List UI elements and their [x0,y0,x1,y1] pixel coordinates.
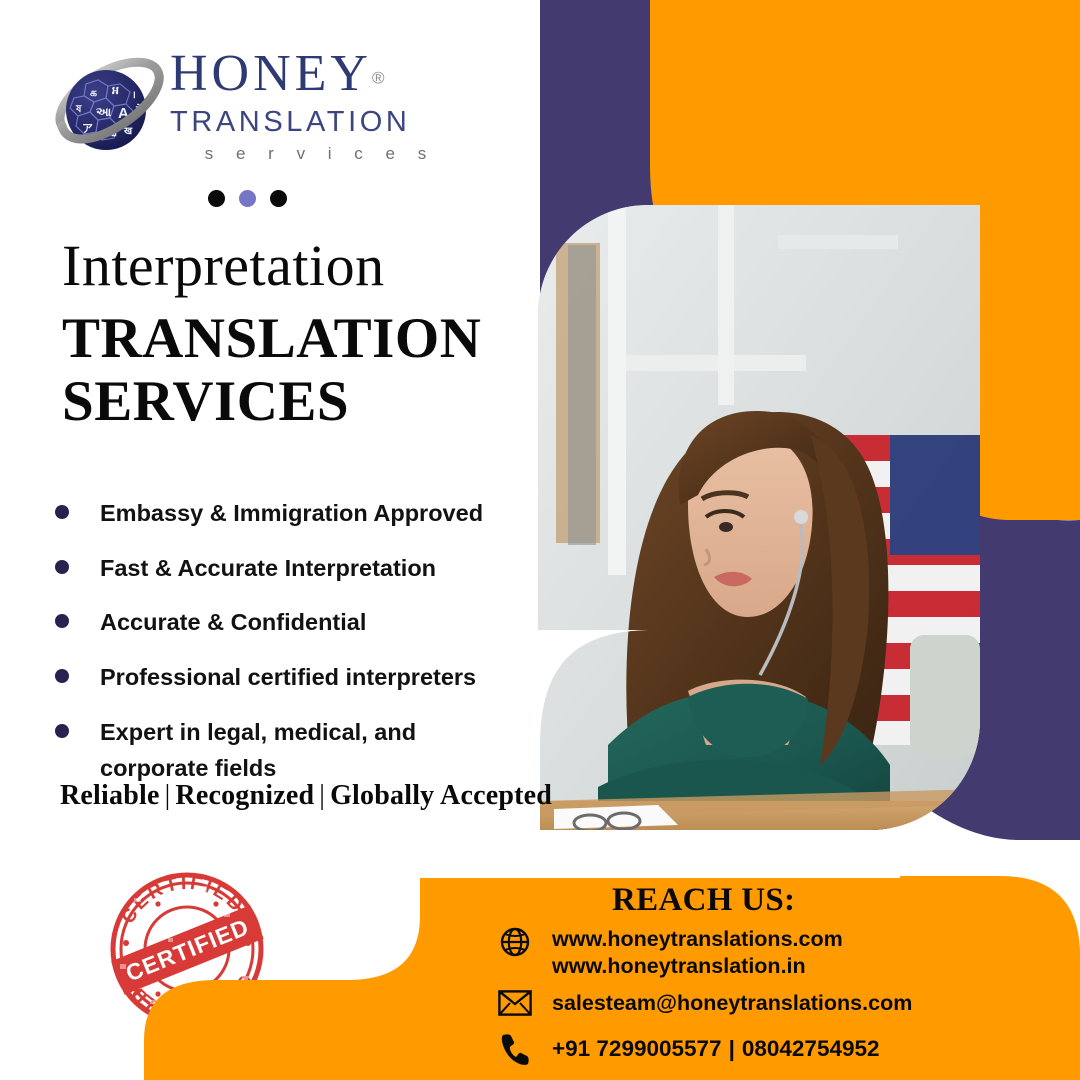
phone-secondary[interactable]: 08042754952 [742,1036,880,1061]
headline-bold-line1: TRANSLATION [62,305,532,372]
headline-bold-line2: SERVICES [62,368,532,435]
contact-website[interactable]: www.honeytranslations.com www.honeytrans… [494,926,843,980]
photo-corner-notch [530,630,690,850]
envelope-icon [494,990,536,1016]
registered-trademark-icon: ® [372,69,385,88]
svg-text:ア: ア [82,122,93,135]
phone-primary[interactable]: +91 7299005577 [552,1036,722,1061]
list-item: Accurate & Confidential [55,605,535,641]
svg-text:ষ: ষ [75,104,82,115]
dot-2 [239,190,256,207]
list-item-label: Accurate & Confidential [100,605,366,641]
contact-phone[interactable]: +91 7299005577|08042754952 [494,1032,880,1066]
list-item-label: Professional certified interpreters [100,660,476,696]
list-item: Professional certified interpreters [55,660,535,696]
phone-icon [494,1032,536,1066]
svg-text:।: । [132,90,136,101]
website-secondary[interactable]: www.honeytranslation.in [552,953,843,980]
tagline-part-2: Recognized [175,780,314,811]
email-text[interactable]: salesteam@honeytranslations.com [552,990,912,1017]
contact-email[interactable]: salesteam@honeytranslations.com [494,990,912,1017]
dot-3 [270,190,287,207]
globe-icon [494,926,536,958]
decorative-dots [208,190,287,207]
logo-subtitle: TRANSLATION [170,104,460,140]
tagline-part-3: Globally Accepted [330,780,552,811]
brand-logo[interactable]: க អ । ষ આ A ने ア ബ ख HONEY® TRANSLATION … [52,48,452,173]
svg-text:க: க [90,87,97,99]
svg-text:આ: આ [96,105,112,119]
bullet-icon [55,505,69,519]
list-item: Embassy & Immigration Approved [55,496,535,532]
feature-list: Embassy & Immigration Approved Fast & Ac… [55,496,535,805]
list-item-label: Expert in legal, medical, and corporate … [100,715,440,786]
tagline-separator-2: | [314,780,330,811]
tagline-part-1: Reliable [60,780,160,811]
bullet-icon [55,560,69,574]
reach-us-title: REACH US: [612,882,795,919]
list-item: Expert in legal, medical, and corporate … [55,715,535,786]
phone-separator: | [722,1036,742,1061]
logo-name-row: HONEY® [170,48,460,100]
svg-text:អ: អ [111,85,119,97]
logo-tagline: s e r v i c e s [170,144,460,164]
bullet-icon [55,669,69,683]
bullet-icon [55,614,69,628]
list-item-label: Fast & Accurate Interpretation [100,551,436,587]
headline-script-line: Interpretation [62,236,532,297]
tagline-separator-1: | [160,780,176,811]
website-primary[interactable]: www.honeytranslations.com [552,926,843,953]
globe-languages-icon: க អ । ষ આ A ने ア ബ ख [52,54,164,166]
logo-wordmark: HONEY® TRANSLATION s e r v i c e s [170,48,460,164]
contact-section: REACH US: www.honeytranslations.com www.… [0,860,1080,1080]
list-item: Fast & Accurate Interpretation [55,551,535,587]
headline-block: Interpretation TRANSLATION SERVICES [62,236,532,435]
logo-brand-name: HONEY [170,48,372,100]
website-text: www.honeytranslations.com www.honeytrans… [552,926,843,980]
poster-canvas: க អ । ষ આ A ने ア ബ ख HONEY® TRANSLATION … [0,0,1080,1080]
bullet-icon [55,724,69,738]
tagline: Reliable|Recognized|Globally Accepted [60,780,552,812]
list-item-label: Embassy & Immigration Approved [100,496,483,532]
phone-text: +91 7299005577|08042754952 [552,1035,880,1063]
dot-1 [208,190,225,207]
